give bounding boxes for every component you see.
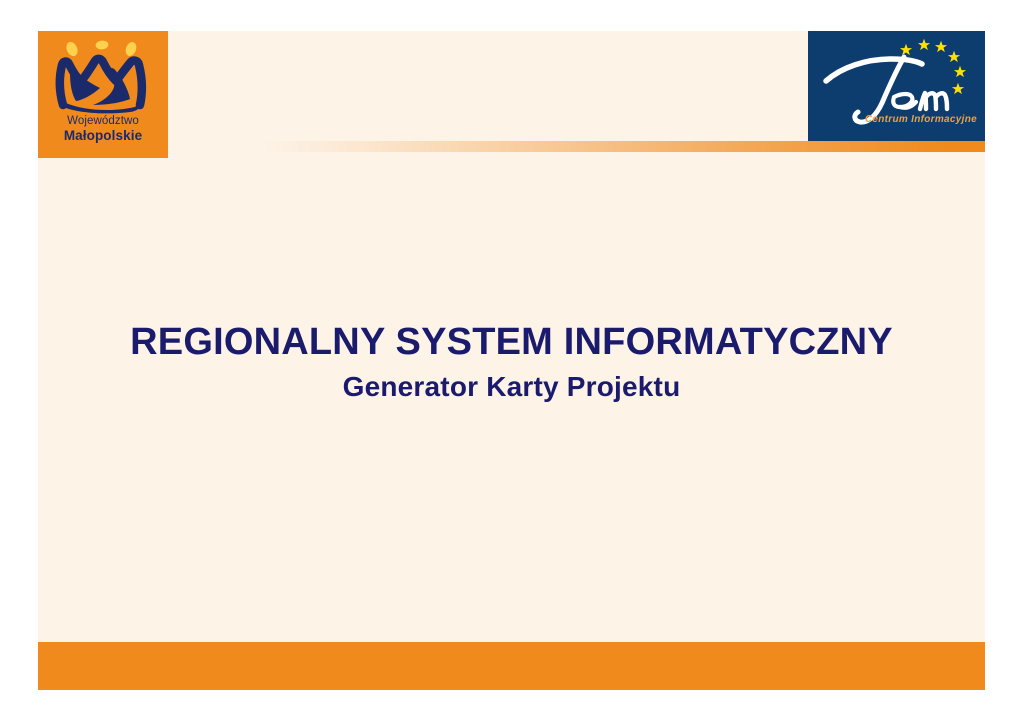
header-gradient-rule — [263, 141, 985, 152]
title-block: REGIONALNY SYSTEM INFORMATYCZNY Generato… — [38, 321, 985, 403]
slide-title: REGIONALNY SYSTEM INFORMATYCZNY — [38, 321, 985, 364]
voivodeship-line-1: Województwo — [38, 115, 168, 128]
footer-band — [38, 642, 985, 690]
wojewodztwo-malopolskie-logo: Województwo Małopolskie — [38, 31, 168, 158]
crown-icon — [50, 39, 156, 115]
voivodeship-line-2: Małopolskie — [38, 128, 168, 144]
fem-logo: Centrum Informacyjne — [808, 31, 985, 141]
fem-tagline: Centrum Informacyjne — [808, 114, 977, 125]
voivodeship-wordmark: Województwo Małopolskie — [38, 115, 168, 144]
slide-canvas: Województwo Małopolskie — [38, 31, 985, 690]
slide-subtitle: Generator Karty Projektu — [38, 370, 985, 404]
